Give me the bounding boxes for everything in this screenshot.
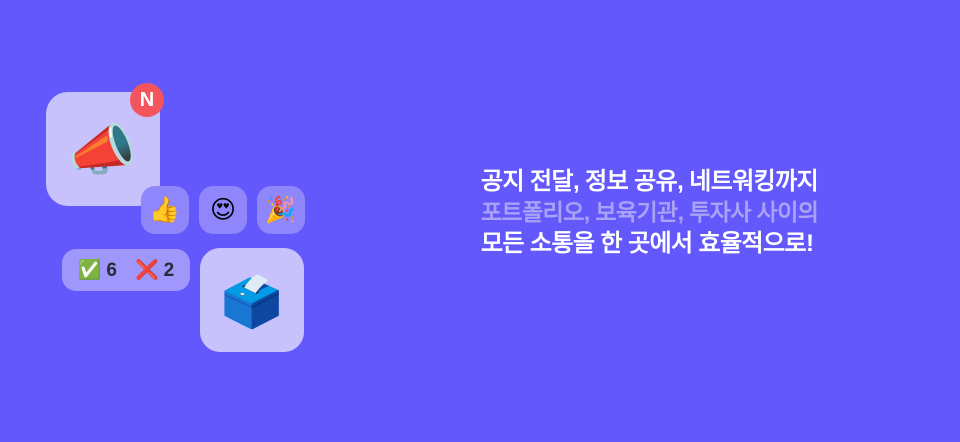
illustration-cluster: 📣 N 👍 😍 🎉 ✅ 6 ❌ 2 🗳️ [0, 0, 400, 442]
new-badge: N [130, 83, 164, 117]
party-popper-icon: 🎉 [265, 198, 296, 223]
headline-line-2: 모든 소통을 한 곳에서 효율적으로! [481, 228, 901, 259]
subline: 포트폴리오, 보육기관, 투자사 사이의 [481, 197, 901, 228]
vote-tally-no-count: 2 [164, 261, 175, 280]
vote-tally-yes: ✅ 6 [78, 261, 117, 280]
vote-tally-no: ❌ 2 [135, 261, 174, 280]
ballot-box-icon: 🗳️ [221, 277, 283, 327]
reaction-chip-heart-eyes[interactable]: 😍 [199, 186, 247, 234]
copy-block: 공지 전달, 정보 공유, 네트워킹까지 포트폴리오, 보육기관, 투자사 사이… [481, 166, 901, 259]
heart-eyes-icon: 😍 [210, 198, 236, 223]
reaction-chip-party-popper[interactable]: 🎉 [257, 186, 305, 234]
vote-tally-pill[interactable]: ✅ 6 ❌ 2 [62, 249, 190, 291]
megaphone-icon: 📣 [67, 122, 137, 178]
check-mark-button-icon: ✅ [78, 261, 102, 280]
reaction-chip-thumbs-up[interactable]: 👍 [141, 186, 189, 234]
thumbs-up-icon: 👍 [149, 198, 180, 223]
poll-card[interactable]: 🗳️ [200, 248, 304, 352]
headline-line-1: 공지 전달, 정보 공유, 네트워킹까지 [481, 166, 901, 197]
promo-banner: 📣 N 👍 😍 🎉 ✅ 6 ❌ 2 🗳️ [0, 0, 960, 442]
cross-mark-icon: ❌ [135, 261, 159, 280]
vote-tally-yes-count: 6 [106, 261, 117, 280]
